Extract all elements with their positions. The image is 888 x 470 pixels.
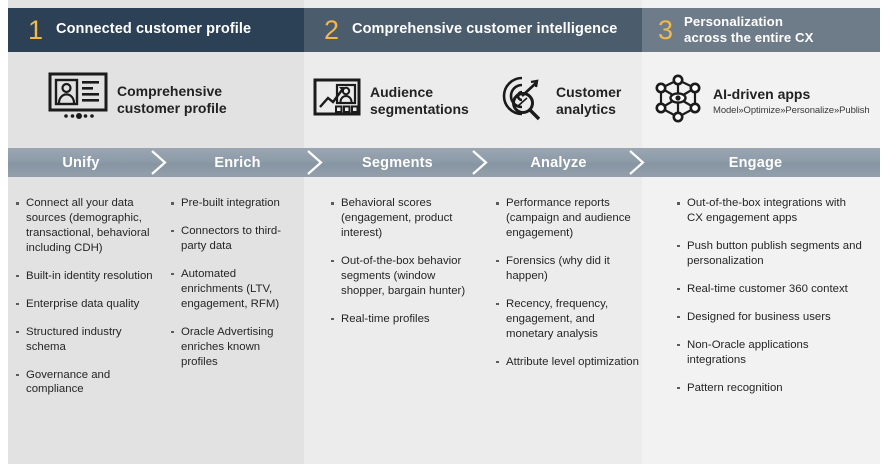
list-item: Push button publish segments and persona…: [676, 239, 862, 269]
section-number-3: 3: [658, 17, 673, 44]
feature-label-4-line1: AI-driven apps: [713, 86, 870, 103]
infographic-canvas: 1 Connected customer profile 2 Comprehen…: [0, 0, 888, 470]
feature-label-2: Audience segmentations: [370, 84, 469, 118]
bullet-column-segments: Behavioral scores (engagement, product i…: [330, 196, 478, 340]
list-item: Pattern recognition: [676, 381, 862, 396]
bullet-list-unify: Connect all your data sources (demograph…: [15, 196, 157, 397]
process-chevron-2: [304, 148, 326, 177]
feature-label-3: Customer analytics: [556, 84, 621, 118]
section-header-2: 2 Comprehensive customer intelligence: [304, 8, 642, 52]
section-title-3: Personalization across the entire CX: [684, 14, 814, 45]
process-step-label-3: Segments: [362, 155, 433, 171]
feature-label-4: AI-driven apps Model»Optimize»Personaliz…: [713, 86, 870, 116]
feature-label-1-line2: customer profile: [117, 100, 227, 117]
neural-network-eye-icon: [652, 74, 704, 129]
feature-label-3-line1: Customer: [556, 84, 621, 101]
process-step-analyze[interactable]: Analyze: [486, 148, 643, 177]
process-step-unify[interactable]: Unify: [8, 148, 166, 177]
process-step-engage[interactable]: Engage: [643, 148, 880, 177]
process-step-label-1: Unify: [62, 155, 99, 171]
bullet-column-engage: Out-of-the-box integrations with CX enga…: [676, 196, 862, 408]
feature-label-2-line2: segmentations: [370, 101, 469, 118]
list-item: Forensics (why did it happen): [495, 254, 641, 284]
section-number-1: 1: [28, 17, 43, 44]
list-item: Out-of-the-box behavior segments (window…: [330, 254, 478, 299]
bullet-column-unify: Connect all your data sources (demograph…: [15, 196, 157, 410]
section-title-3-line2: across the entire CX: [684, 30, 814, 46]
process-step-label-4: Analyze: [530, 155, 586, 171]
process-step-segments[interactable]: Segments: [321, 148, 486, 177]
section-title-1: Connected customer profile: [56, 21, 251, 38]
feature-comprehensive-customer-profile: Comprehensive customer profile: [48, 72, 227, 127]
section-title-3-line1: Personalization: [684, 14, 814, 30]
list-item: Real-time profiles: [330, 312, 478, 327]
bullet-list-enrich: Pre-built integration Connectors to thir…: [170, 196, 298, 369]
chart-audience-icon: [313, 76, 361, 125]
id-card-profile-icon: [48, 72, 108, 127]
bullet-list-segments: Behavioral scores (engagement, product i…: [330, 196, 478, 327]
process-step-enrich[interactable]: Enrich: [166, 148, 321, 177]
feature-label-2-line1: Audience: [370, 84, 469, 101]
list-item: Attribute level optimization: [495, 355, 641, 370]
feature-customer-analytics: Customer analytics: [497, 74, 621, 127]
process-step-label-2: Enrich: [214, 155, 260, 171]
feature-subtitle-4: Model»Optimize»Personalize»Publish: [713, 105, 870, 116]
feature-label-1-line1: Comprehensive: [117, 83, 227, 100]
process-chevron-4: [626, 148, 648, 177]
list-item: Built-in identity resolution: [15, 269, 157, 284]
list-item: Out-of-the-box integrations with CX enga…: [676, 196, 862, 226]
section-header-3: 3 Personalization across the entire CX: [642, 8, 880, 52]
list-item: Pre-built integration: [170, 196, 298, 211]
process-step-label-5: Engage: [729, 155, 783, 171]
bullet-column-enrich: Pre-built integration Connectors to thir…: [170, 196, 298, 382]
feature-label-3-line2: analytics: [556, 101, 621, 118]
section-number-2: 2: [324, 17, 339, 44]
list-item: Structured industry schema: [15, 325, 157, 355]
process-chevron-1: [148, 148, 170, 177]
list-item: Governance and compliance: [15, 368, 157, 398]
list-item: Non-Oracle applications integrations: [676, 338, 862, 368]
list-item: Automated enrichments (LTV, engagement, …: [170, 267, 298, 312]
bullet-list-engage: Out-of-the-box integrations with CX enga…: [676, 196, 862, 395]
feature-ai-driven-apps: AI-driven apps Model»Optimize»Personaliz…: [652, 74, 870, 129]
bullet-list-analyze: Performance reports (campaign and audien…: [495, 196, 641, 369]
feature-audience-segmentations: Audience segmentations: [313, 76, 469, 125]
list-item: Designed for business users: [676, 310, 862, 325]
list-item: Oracle Advertising enriches known profil…: [170, 325, 298, 370]
bullet-column-analyze: Performance reports (campaign and audien…: [495, 196, 641, 382]
target-magnifier-icon: [497, 74, 547, 127]
feature-label-1: Comprehensive customer profile: [117, 83, 227, 117]
list-item: Connect all your data sources (demograph…: [15, 196, 157, 256]
process-chevron-3: [469, 148, 491, 177]
list-item: Connectors to third-party data: [170, 224, 298, 254]
list-item: Recency, frequency, engagement, and mone…: [495, 297, 641, 342]
list-item: Enterprise data quality: [15, 297, 157, 312]
list-item: Real-time customer 360 context: [676, 282, 862, 297]
section-header-1: 1 Connected customer profile: [8, 8, 304, 52]
section-title-2: Comprehensive customer intelligence: [352, 21, 617, 38]
process-band: Unify Enrich Segments Analyze Engage: [8, 148, 880, 177]
list-item: Performance reports (campaign and audien…: [495, 196, 641, 241]
list-item: Behavioral scores (engagement, product i…: [330, 196, 478, 241]
